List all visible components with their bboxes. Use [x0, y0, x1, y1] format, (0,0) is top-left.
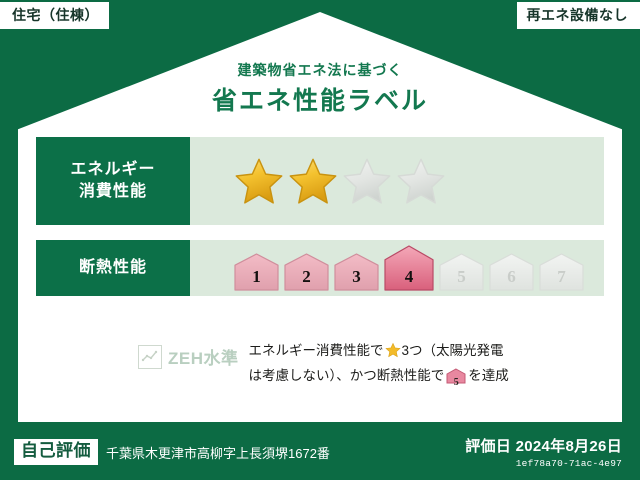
insulation-level-3: 3 [334, 253, 379, 291]
property-address: 千葉県木更津市高柳字上長須堺1672番 [106, 443, 330, 462]
insulation-level-number: 2 [284, 267, 329, 287]
insulation-level-number: 7 [539, 267, 584, 287]
insulation-performance-row: 断熱性能 1234567 [36, 240, 604, 296]
zeh-chart-icon [138, 345, 162, 369]
houses-container: 1234567 [234, 245, 584, 291]
page-title: 省エネ性能ラベル [0, 81, 640, 117]
insulation-level-2: 2 [284, 253, 329, 291]
footer-right-group: 評価日 2024年8月26日 1ef78a70-71ac-4e97 [465, 435, 626, 469]
insulation-level-number: 5 [439, 267, 484, 287]
footer-bar: 自己評価 千葉県木更津市高柳字上長須堺1672番 評価日 2024年8月26日 … [0, 424, 640, 480]
zeh-label: ZEH水準 [168, 344, 239, 369]
zeh-name-group: ZEH水準 [138, 340, 239, 369]
energy-label-line2: 消費性能 [79, 181, 147, 203]
insulation-level-6: 6 [489, 253, 534, 291]
insulation-label: 断熱性能 [79, 257, 147, 279]
insulation-level-badge: 5 [446, 368, 466, 391]
energy-performance-label-block: エネルギー 消費性能 [36, 137, 190, 225]
star-icon [385, 342, 401, 365]
insulation-level-number: 4 [384, 267, 434, 287]
insulation-level-7: 7 [539, 253, 584, 291]
renewable-equipment-tag: 再エネ設備なし [517, 2, 640, 29]
zeh-desc-text-b: 3つ（太陽光発電 [402, 343, 504, 358]
star-empty-icon [342, 156, 392, 206]
insulation-level-1: 1 [234, 253, 279, 291]
star-filled-icon [234, 156, 284, 206]
insulation-level-number: 6 [489, 267, 534, 287]
zeh-desc-text-d: を達成 [468, 368, 509, 383]
insulation-level-5: 5 [439, 253, 484, 291]
zeh-desc-text-c: は考慮しない）、かつ断熱性能で [249, 368, 445, 383]
insulation-rating-houses: 1234567 [190, 240, 604, 296]
energy-label-line1: エネルギー [70, 159, 155, 181]
star-empty-icon [396, 156, 446, 206]
insulation-performance-label-block: 断熱性能 [36, 240, 190, 296]
evaluation-date: 評価日 2024年8月26日 [465, 435, 622, 456]
energy-performance-label: 住宅（住棟） 再エネ設備なし 建築物省エネ法に基づく 省エネ性能ラベル エネルギ… [0, 0, 640, 480]
zeh-description-line1: エネルギー消費性能で 3つ（太陽光発電 [249, 340, 509, 365]
zeh-description-line2: は考慮しない）、かつ断熱性能で 5 を達成 [249, 365, 509, 391]
energy-rating-stars [190, 137, 604, 225]
energy-performance-row: エネルギー 消費性能 [36, 137, 604, 225]
evaluation-id: 1ef78a70-71ac-4e97 [465, 458, 622, 469]
insulation-level-badge-value: 5 [446, 375, 466, 392]
label-subtitle: 建築物省エネ法に基づく [0, 60, 640, 80]
zeh-standard-block: ZEH水準 エネルギー消費性能で 3つ（太陽光発電 は考慮しない）、かつ断熱性能… [138, 340, 509, 392]
insulation-level-number: 3 [334, 267, 379, 287]
star-filled-icon [288, 156, 338, 206]
zeh-desc-text-a: エネルギー消費性能で [249, 343, 384, 358]
zeh-description: エネルギー消費性能で 3つ（太陽光発電 は考慮しない）、かつ断熱性能で 5 を達… [249, 340, 509, 392]
insulation-level-4: 4 [384, 245, 434, 291]
stars-container [234, 156, 446, 206]
building-type-tag: 住宅（住棟） [0, 2, 109, 29]
self-evaluation-badge: 自己評価 [14, 439, 98, 465]
insulation-level-number: 1 [234, 267, 279, 287]
